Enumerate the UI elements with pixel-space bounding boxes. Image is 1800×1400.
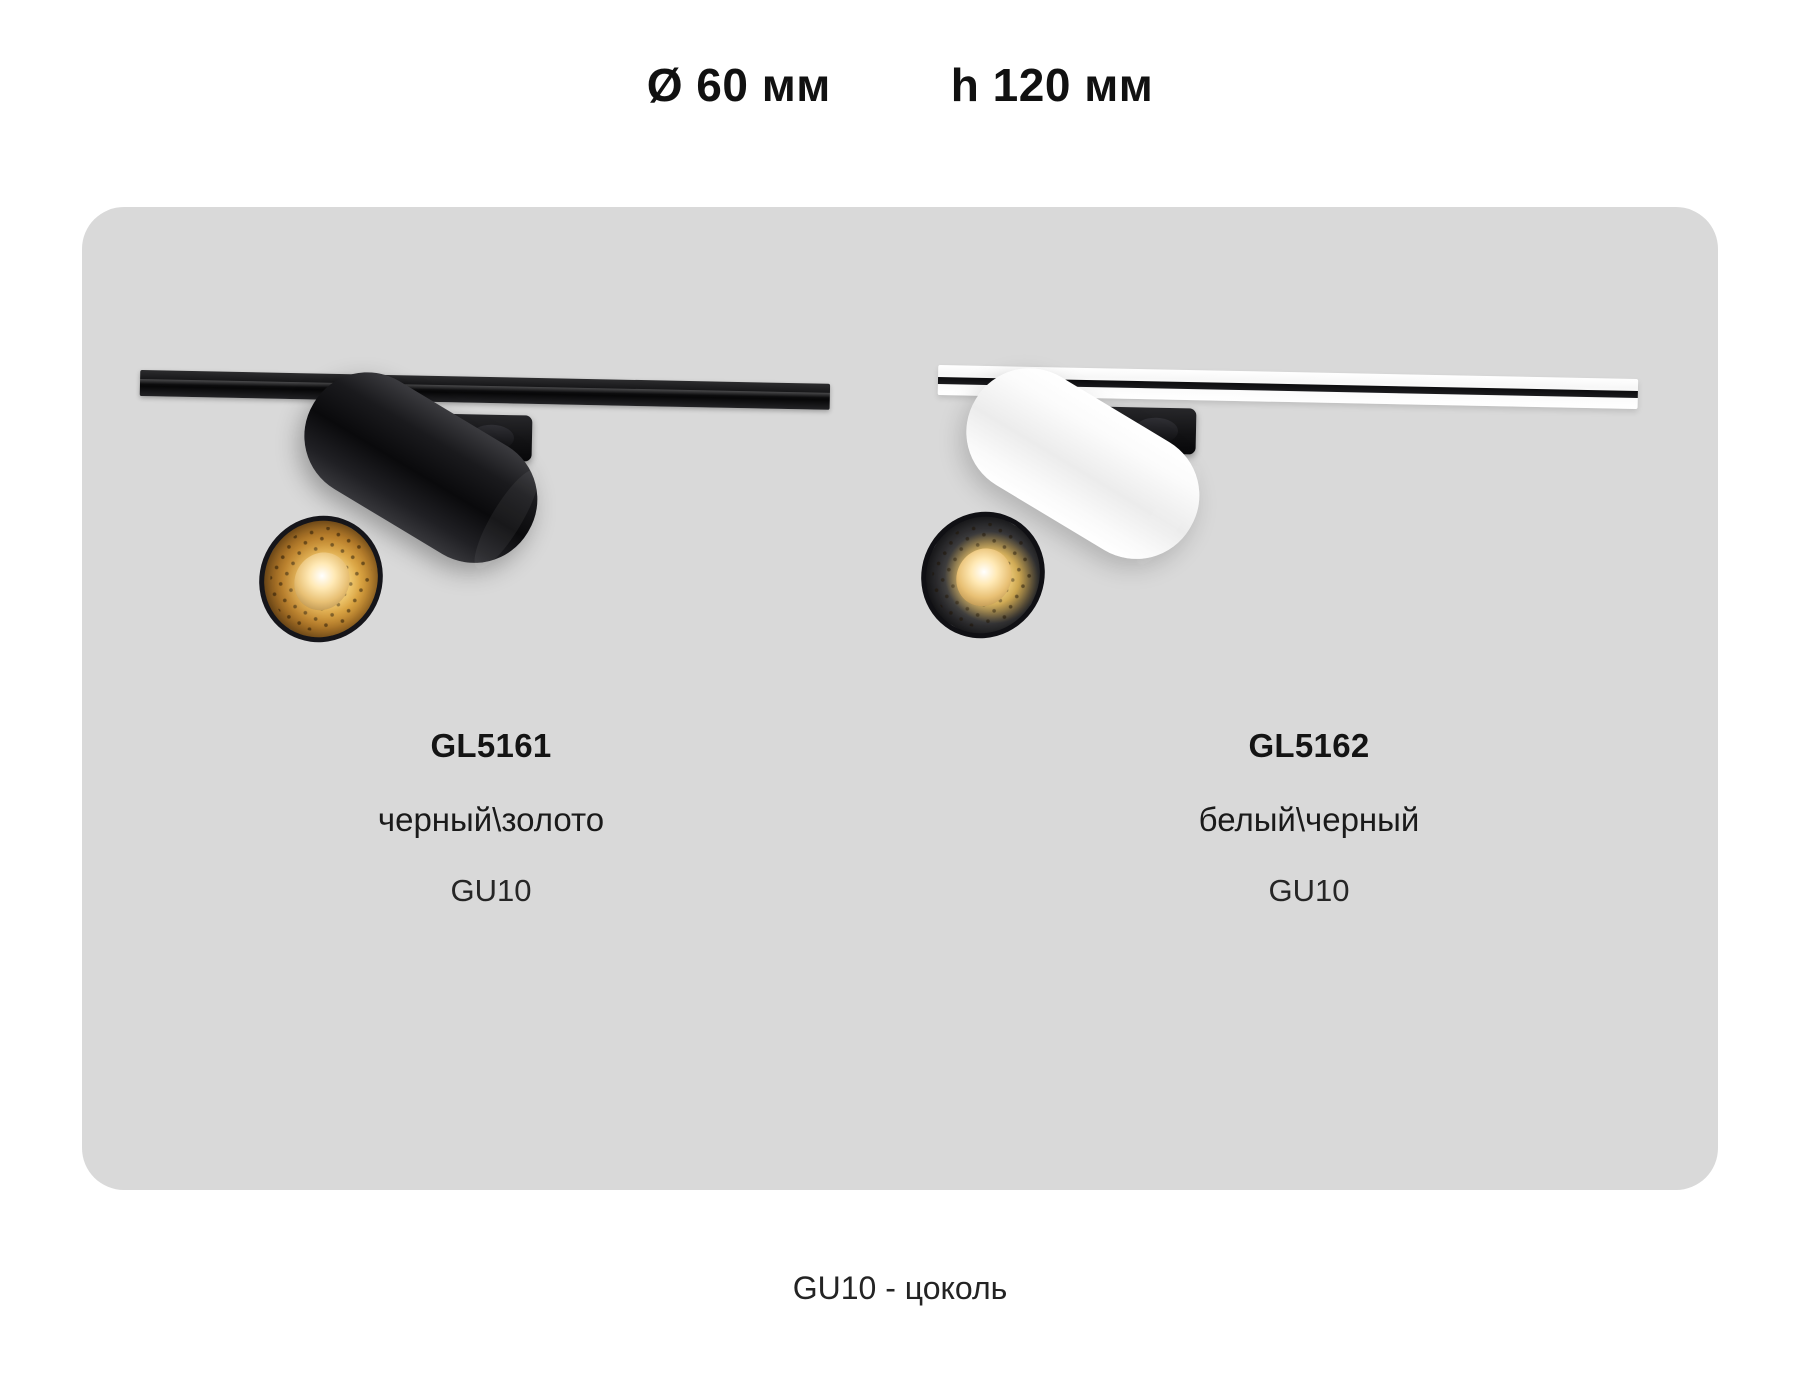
product-sku: GL5161: [82, 727, 900, 765]
product-item-gl5162[interactable]: GL5162 белый\черный GU10: [900, 207, 1718, 1190]
product-item-gl5161[interactable]: GL5161 черный\золото GU10: [82, 207, 900, 1190]
product-card: GL5161 черный\золото GU10 GL5162 белый\ч…: [82, 207, 1718, 1190]
reflector-head-icon: [236, 493, 406, 666]
diameter-label: Ø 60 мм: [647, 58, 831, 112]
product-list: GL5161 черный\золото GU10 GL5162 белый\ч…: [82, 207, 1718, 1190]
reflector-ring-icon: [236, 493, 406, 666]
dimensions-row: Ø 60 мм h 120 мм: [0, 58, 1800, 112]
product-photo-gl5162: [900, 207, 1718, 767]
product-photo-gl5161: [82, 207, 900, 767]
track-rail-icon: [140, 370, 830, 410]
product-finish: белый\черный: [900, 801, 1718, 839]
product-finish: черный\золото: [82, 801, 900, 839]
product-socket: GU10: [82, 873, 900, 909]
height-label: h 120 мм: [951, 58, 1153, 112]
product-socket: GU10: [900, 873, 1718, 909]
reflector-ring-icon: [898, 489, 1068, 662]
reflector-head-icon: [898, 489, 1068, 662]
product-caption-gl5161: GL5161 черный\золото GU10: [82, 727, 900, 909]
product-sku: GL5162: [900, 727, 1718, 765]
product-caption-gl5162: GL5162 белый\черный GU10: [900, 727, 1718, 909]
socket-footnote: GU10 - цоколь: [0, 1270, 1800, 1307]
